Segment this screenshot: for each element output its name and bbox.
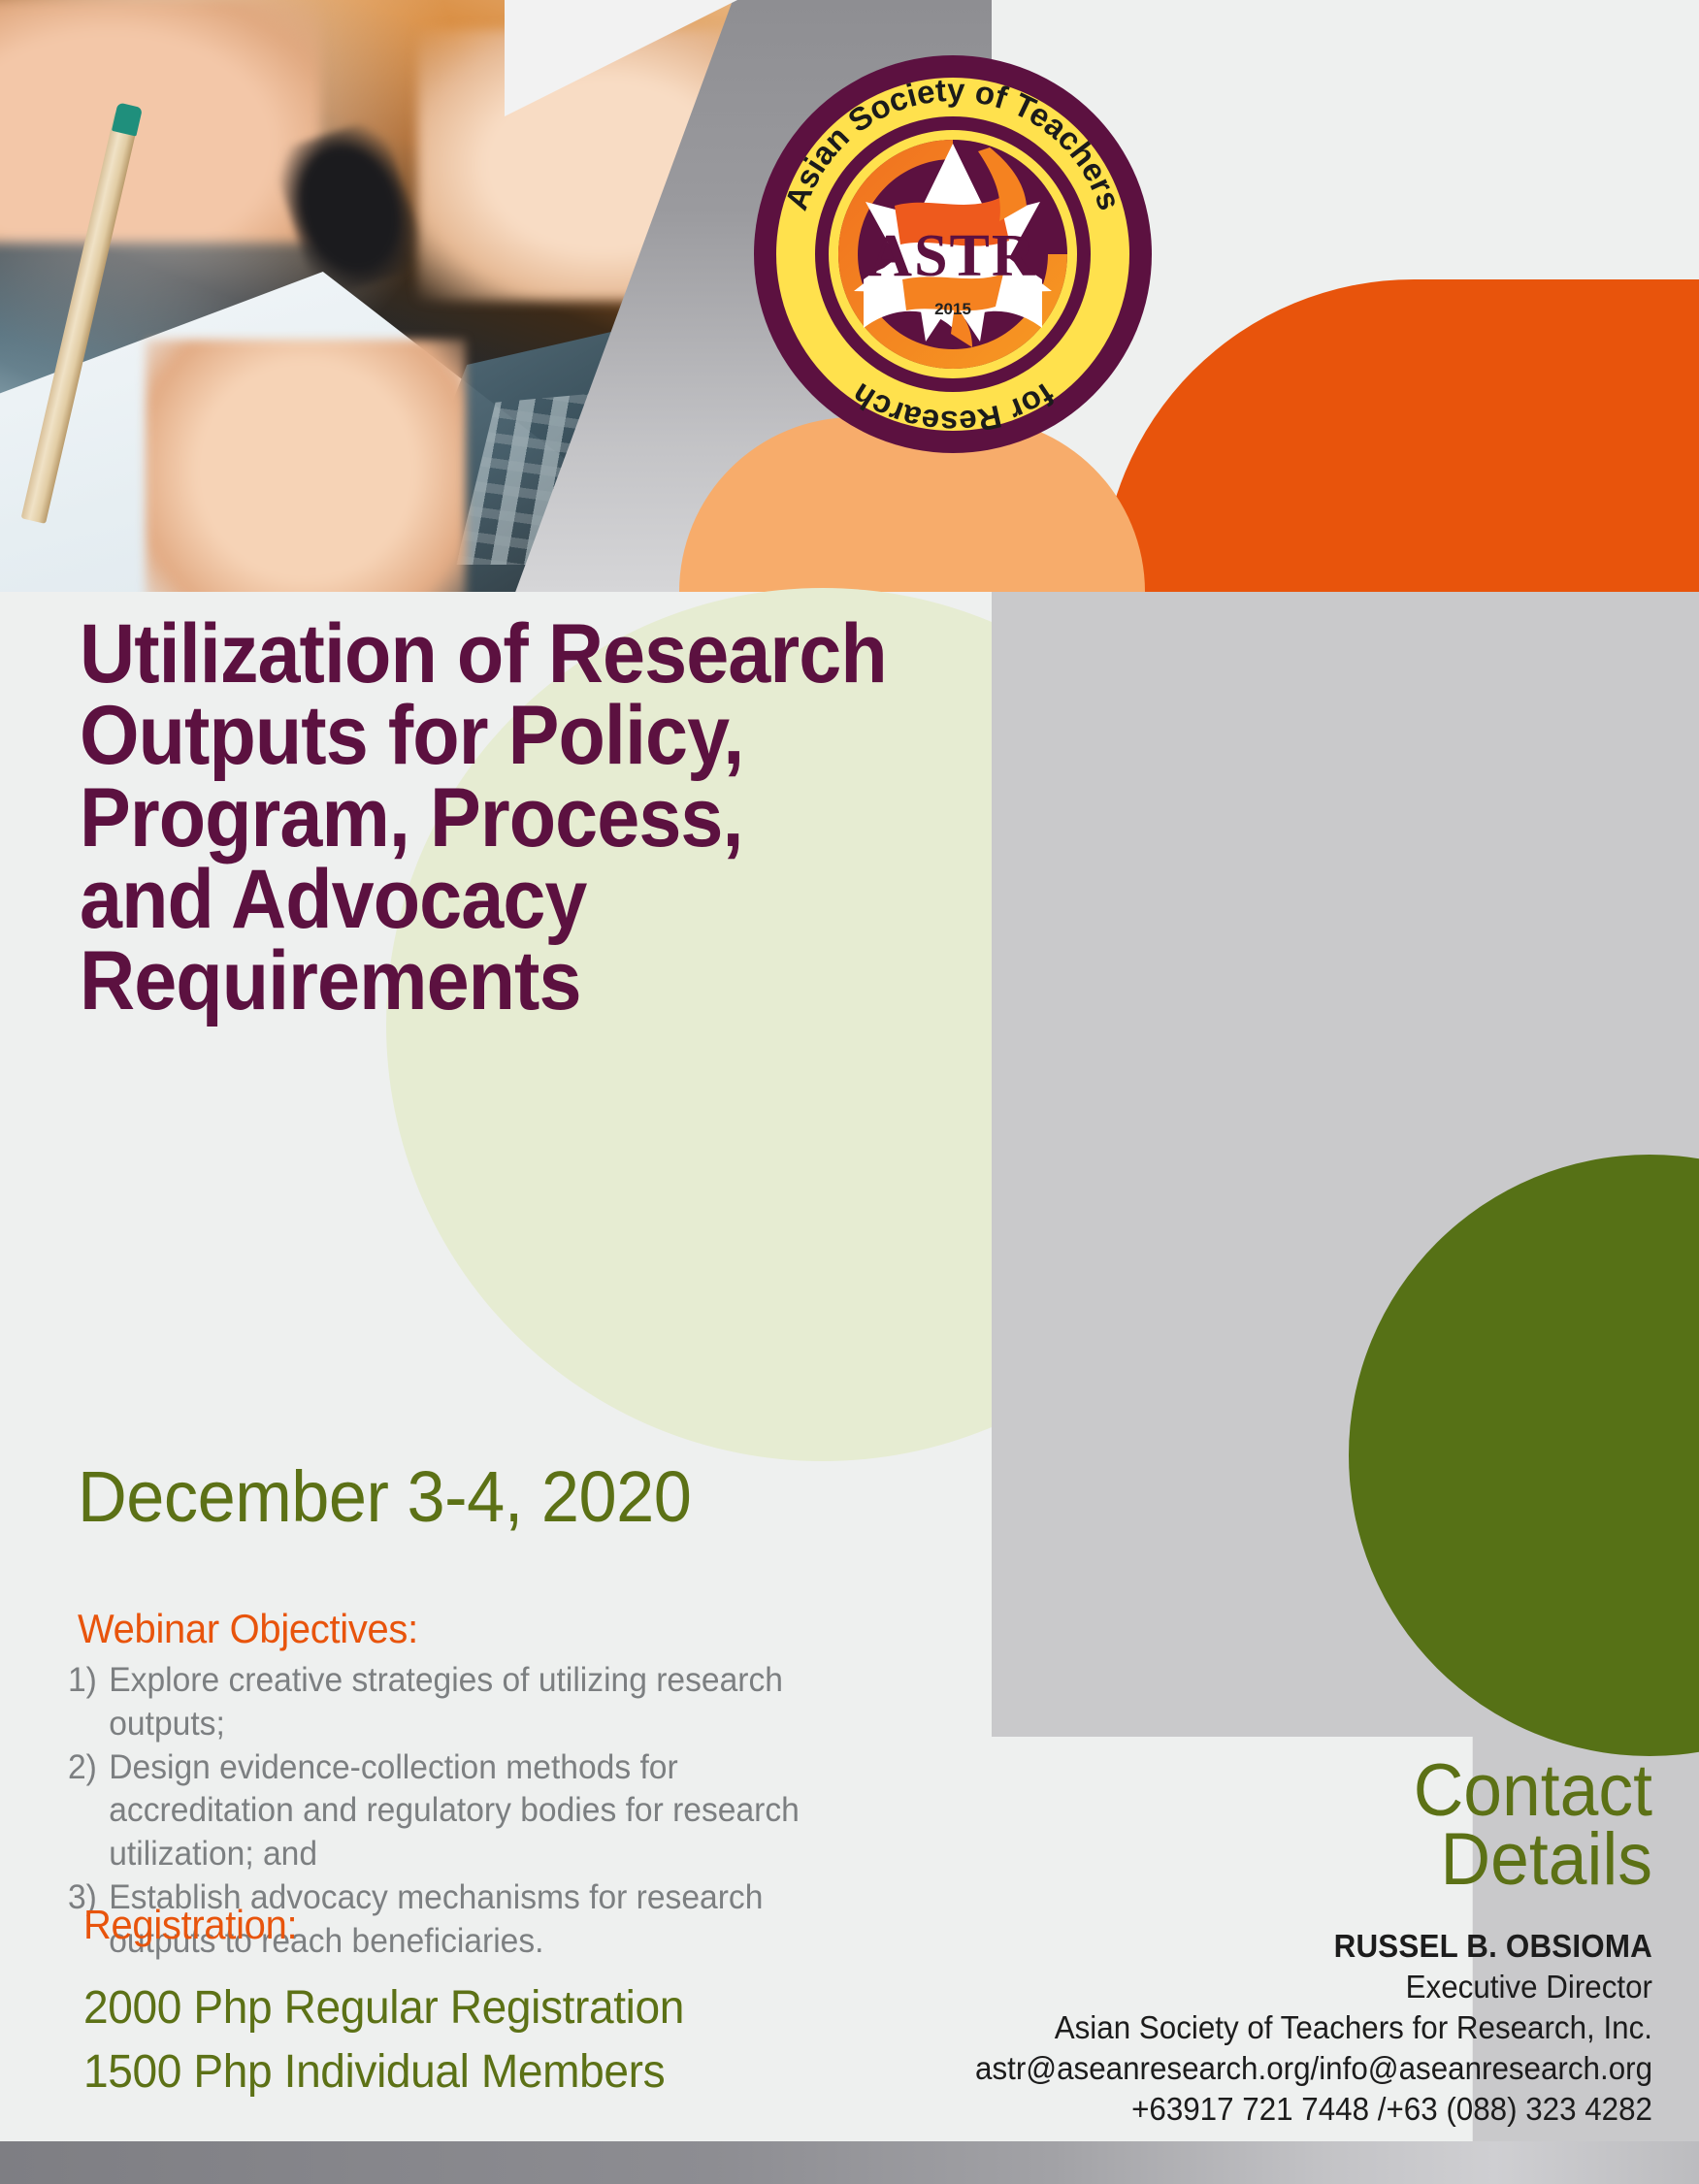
contact-person-role: Executive Director [970, 1967, 1652, 2007]
objective-item: 2) Design evidence-collection methods fo… [68, 1746, 841, 1876]
objective-number: 1) [68, 1659, 109, 1703]
objectives-heading: Webinar Objectives: [78, 1606, 418, 1652]
poster-canvas: ASTR 2015 Asian Society of Teachers for … [0, 0, 1699, 2184]
title-line-3: Program, Process, [80, 777, 910, 859]
contact-heading-line-2: Details [1414, 1825, 1652, 1894]
contact-organization: Asian Society of Teachers for Research, … [970, 2007, 1652, 2048]
contact-heading-line-1: Contact [1414, 1756, 1652, 1825]
objective-text: Design evidence-collection methods for a… [109, 1746, 841, 1876]
registration-regular-fee: 2000 Php Regular Registration [83, 1981, 684, 2035]
poster-content: Utilization of Research Outputs for Poli… [0, 0, 1699, 2184]
objective-text: Explore creative strategies of utilizing… [109, 1659, 841, 1746]
contact-details-body: RUSSEL B. OBSIOMA Executive Director Asi… [970, 1926, 1652, 2130]
bottom-gradient-bar [0, 2141, 1699, 2184]
registration-member-fee: 1500 Php Individual Members [83, 2045, 665, 2099]
title-line-4: and Advocacy [80, 859, 910, 940]
objective-number: 2) [68, 1746, 109, 1790]
poster-title: Utilization of Research Outputs for Poli… [80, 613, 910, 1022]
contact-person-name: RUSSEL B. OBSIOMA [970, 1926, 1652, 1967]
registration-heading: Registration: [83, 1902, 297, 1948]
contact-emails: astr@aseanresearch.org/info@aseanresearc… [970, 2048, 1652, 2089]
event-date: December 3-4, 2020 [78, 1455, 691, 1538]
contact-phones: +63917 721 7448 /+63 (088) 323 4282 [970, 2089, 1652, 2130]
objective-item: 1) Explore creative strategies of utiliz… [68, 1659, 841, 1746]
title-line-5: Requirements [80, 940, 910, 1022]
contact-details-heading: Contact Details [1414, 1756, 1652, 1895]
title-line-1: Utilization of Research [80, 613, 910, 695]
title-line-2: Outputs for Policy, [80, 695, 910, 776]
